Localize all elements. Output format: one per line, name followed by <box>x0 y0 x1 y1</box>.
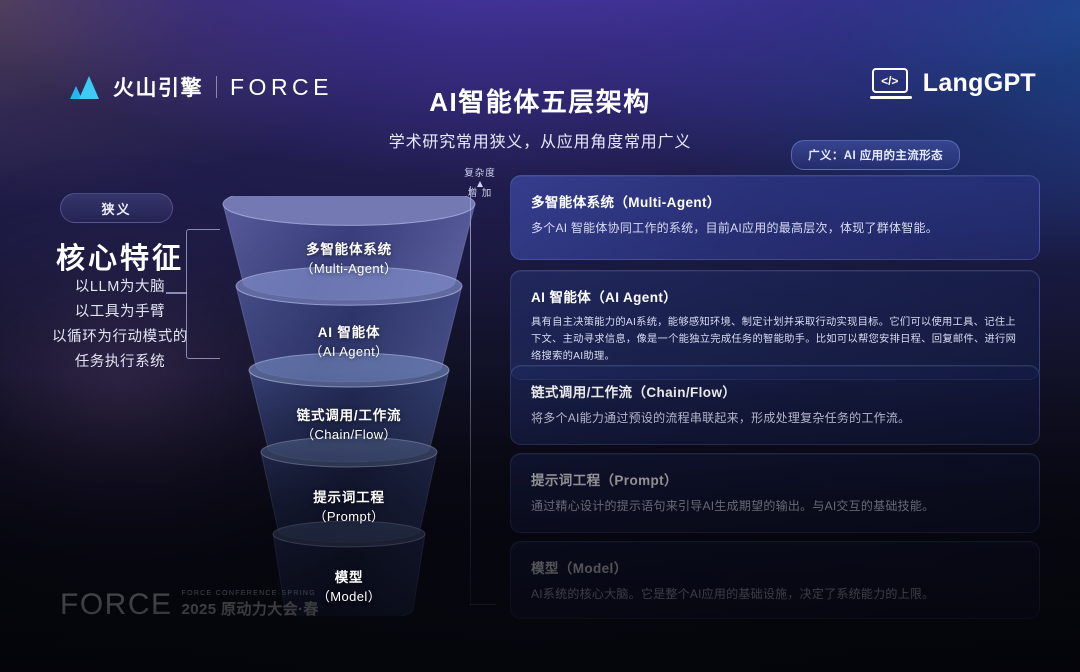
scope-bracket <box>186 229 220 359</box>
langgpt-logo: </> LangGPT <box>870 68 1036 99</box>
funnel-layer-ai-agent[interactable]: AI 智能体 （AI Agent） <box>218 320 480 366</box>
description-panel-multi-agent[interactable]: 多智能体系统（Multi-Agent） 多个AI 智能体协同工作的系统，目前AI… <box>510 175 1040 260</box>
laptop-code-icon: </> <box>870 68 912 99</box>
panel-title: 链式调用/工作流（Chain/Flow） <box>531 381 1019 401</box>
complexity-text: 复杂度 <box>452 168 508 180</box>
funnel-diagram: 多智能体系统 （Multi-Agent） AI 智能体 （AI Agent） 链… <box>218 196 480 616</box>
funnel-layer-prompt[interactable]: 提示词工程 （Prompt） <box>218 485 480 530</box>
footer-force-wordmark: FORCE <box>60 588 173 622</box>
panel-body: 通过精心设计的提示语句来引导AI生成期望的输出。与AI交互的基础技能。 <box>531 497 1019 516</box>
panel-title: 模型（Model） <box>531 557 1019 577</box>
funnel-layer-label-cn: 链式调用/工作流 <box>297 407 402 425</box>
funnel-layer-label-en: （Chain/Flow） <box>297 425 402 444</box>
footer-conference-cn: 2025 原动力大会·春 <box>182 598 319 619</box>
arrow-up-icon <box>477 181 483 187</box>
funnel-layer-label-en: （Multi-Agent） <box>301 259 398 278</box>
force-conference-footer: FORCE FORCE CONFERENCE·SPRING 2025 原动力大会… <box>60 588 319 622</box>
panel-body: 具有自主决策能力的AI系统，能够感知环境、制定计划并采取行动实现目标。它们可以使… <box>531 314 1019 365</box>
description-panel-chain-flow[interactable]: 链式调用/工作流（Chain/Flow） 将多个AI能力通过预设的流程串联起来，… <box>510 365 1040 445</box>
funnel-layer-label-en: （AI Agent） <box>309 342 388 361</box>
panel-body: 将多个AI能力通过预设的流程串联起来，形成处理复杂任务的工作流。 <box>531 409 1019 428</box>
description-panel-ai-agent[interactable]: AI 智能体（AI Agent） 具有自主决策能力的AI系统，能够感知环境、制定… <box>510 270 1040 380</box>
langgpt-name: LangGPT <box>923 69 1036 98</box>
funnel-layer-label-cn: 多智能体系统 <box>301 241 398 259</box>
scope-bracket-stem <box>166 292 187 294</box>
wide-definition-badge: 广义：AI 应用的主流形态 <box>791 140 960 170</box>
funnel-layer-label-en: （Prompt） <box>313 507 385 526</box>
funnel-layer-label-cn: 提示词工程 <box>313 489 385 507</box>
footer-conference-en: FORCE CONFERENCE·SPRING <box>182 590 319 597</box>
description-panel-prompt[interactable]: 提示词工程（Prompt） 通过精心设计的提示语句来引导AI生成期望的输出。与A… <box>510 453 1040 533</box>
panel-title: 多智能体系统（Multi-Agent） <box>531 191 1019 211</box>
panel-title: AI 智能体（AI Agent） <box>531 286 1019 306</box>
slide-canvas: 火山引擎 FORCE AI智能体五层架构 学术研究常用狭义，从应用角度常用广义 … <box>0 0 1080 672</box>
funnel-layer-multi-agent[interactable]: 多智能体系统 （Multi-Agent） <box>218 237 480 282</box>
description-panel-model[interactable]: 模型（Model） AI系统的核心大脑。它是整个AI应用的基础设施，决定了系统能… <box>510 541 1040 619</box>
panel-body: AI系统的核心大脑。它是整个AI应用的基础设施，决定了系统能力的上限。 <box>531 585 1019 604</box>
code-glyph: </> <box>872 68 908 93</box>
funnel-layer-label-cn: AI 智能体 <box>309 324 388 342</box>
funnel-layer-chain-flow[interactable]: 链式调用/工作流 （Chain/Flow） <box>218 403 480 448</box>
panel-body: 多个AI 智能体协同工作的系统，目前AI应用的最高层次，体现了群体智能。 <box>531 219 1019 238</box>
narrow-definition-badge: 狭义 <box>60 193 173 223</box>
funnel-layer-label-cn: 模型 <box>317 569 381 587</box>
funnel-layer-label-en: （Model） <box>317 587 381 606</box>
panel-title: 提示词工程（Prompt） <box>531 469 1019 489</box>
